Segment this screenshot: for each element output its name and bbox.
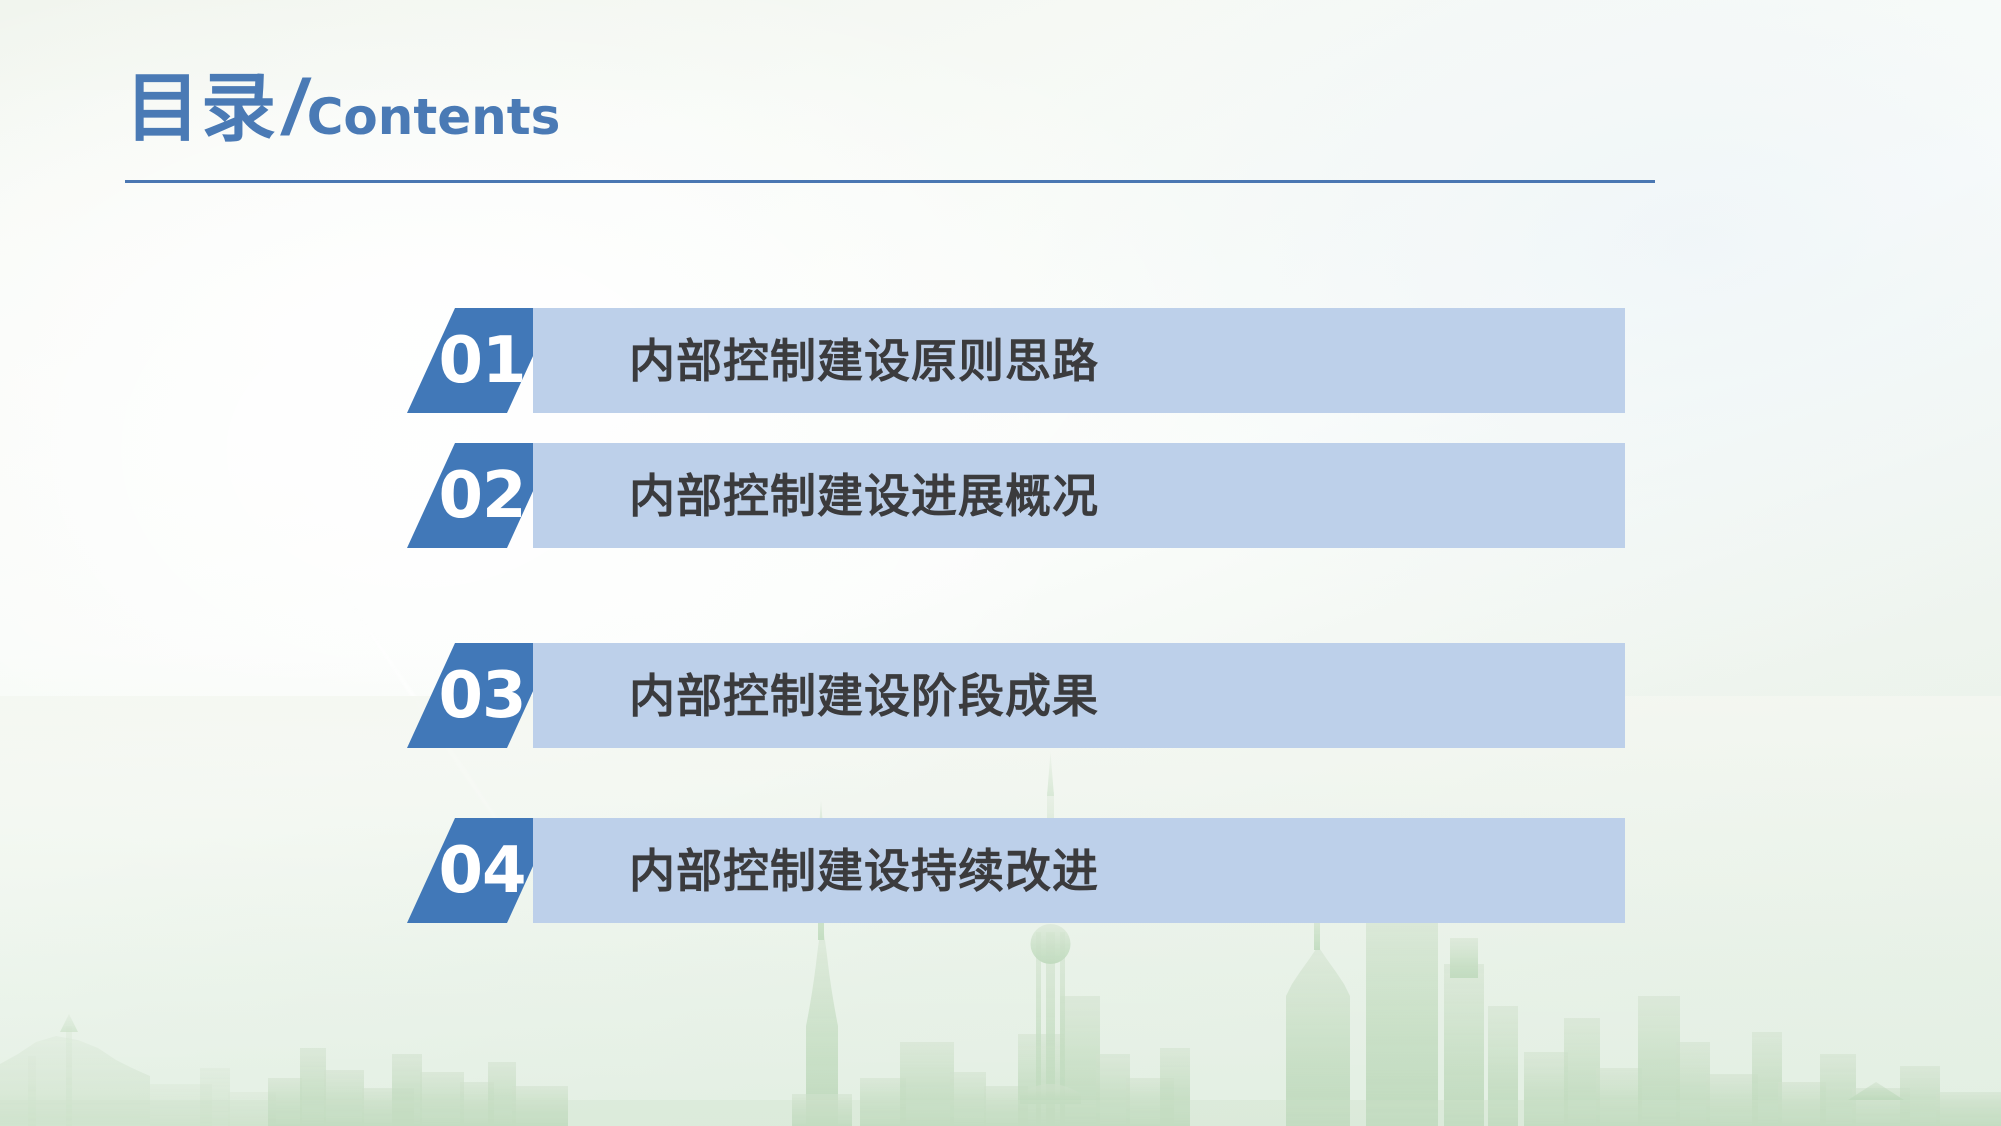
toc-label-chip-02: 内部控制建设进展概况 [533, 443, 1625, 548]
toc-label-chip-03: 内部控制建设阶段成果 [533, 643, 1625, 748]
toc-item-02[interactable]: 02 内部控制建设进展概况 [407, 443, 1625, 548]
toc-label-04: 内部控制建设持续改进 [533, 848, 1099, 894]
toc-number-02: 02 [438, 464, 525, 528]
toc-label-chip-01: 内部控制建设原则思路 [533, 308, 1625, 413]
slide-contents: 目录 / Contents 01 内部控制建设原则思路 02 内部控制建设进展概… [0, 0, 2001, 1126]
toc-item-01[interactable]: 01 内部控制建设原则思路 [407, 308, 1625, 413]
toc-item-04[interactable]: 04 内部控制建设持续改进 [407, 818, 1625, 923]
toc-label-chip-04: 内部控制建设持续改进 [533, 818, 1625, 923]
toc-number-03: 03 [438, 664, 525, 728]
toc-number-04: 04 [438, 839, 525, 903]
toc-label-02: 内部控制建设进展概况 [533, 473, 1099, 519]
table-of-contents: 01 内部控制建设原则思路 02 内部控制建设进展概况 03 内部控制建设阶段成… [0, 0, 2001, 1126]
toc-item-03[interactable]: 03 内部控制建设阶段成果 [407, 643, 1625, 748]
toc-label-01: 内部控制建设原则思路 [533, 338, 1099, 384]
toc-label-03: 内部控制建设阶段成果 [533, 673, 1099, 719]
toc-number-01: 01 [438, 329, 525, 393]
